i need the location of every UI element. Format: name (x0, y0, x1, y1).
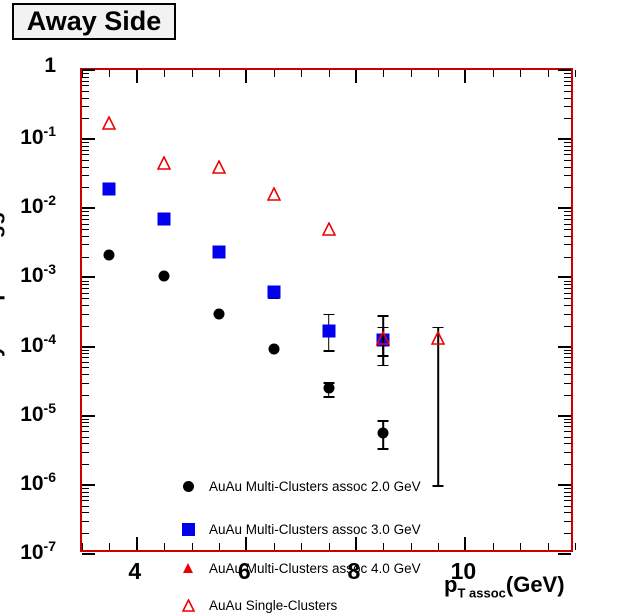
y-tick-minor (82, 77, 89, 78)
data-point (157, 156, 171, 170)
y-tick-minor (564, 257, 571, 258)
x-tick-major (464, 537, 466, 550)
error-bar-cap (323, 396, 334, 398)
legend-marker-open-triangle-icon (167, 599, 209, 612)
error-bar-cap (378, 327, 389, 329)
y-tick-minor (82, 211, 89, 212)
y-tick-major (558, 553, 571, 555)
y-tick-minor (82, 224, 89, 225)
y-tick-minor (82, 175, 89, 176)
y-tick-minor (564, 431, 571, 432)
y-tick-minor (82, 146, 89, 147)
error-bar-cap (378, 420, 389, 422)
legend-item[interactable]: AuAu Multi-Clusters assoc 3.0 GeV (167, 518, 421, 540)
y-tick-minor (82, 314, 89, 315)
x-tick-minor (164, 70, 165, 77)
data-point (378, 428, 389, 439)
y-tick-minor (82, 244, 89, 245)
y-tick-minor (82, 298, 89, 299)
x-tick-minor (219, 70, 220, 77)
y-tick-major (82, 69, 95, 71)
y-tick-minor (82, 437, 89, 438)
x-tick-minor (109, 543, 110, 550)
y-tick-minor (82, 154, 89, 155)
y-tick-minor (564, 426, 571, 427)
y-tick-minor (564, 305, 571, 306)
plot-area: AuAu Multi-Clusters assoc 2.0 GeVAuAu Mu… (80, 68, 573, 552)
y-tick-minor (564, 281, 571, 282)
y-tick-minor (564, 353, 571, 354)
y-tick-minor (564, 512, 571, 513)
y-tick-label: 10-5 (20, 400, 56, 427)
y-tick-minor (82, 81, 89, 82)
error-bar-cap (378, 365, 389, 367)
y-tick-minor (564, 175, 571, 176)
y-tick-major (558, 346, 571, 348)
y-tick-minor (82, 257, 89, 258)
x-tick-minor (520, 543, 521, 550)
error-bar-cap (433, 327, 444, 329)
y-tick-minor (564, 521, 571, 522)
x-tick-minor (301, 70, 302, 77)
y-tick-minor (564, 160, 571, 161)
error-bar-cap (433, 485, 444, 487)
y-tick-minor (82, 357, 89, 358)
legend-item[interactable]: AuAu Multi-Clusters assoc 4.0 GeV (167, 557, 421, 579)
x-tick-minor (274, 70, 275, 77)
y-tick-minor (564, 211, 571, 212)
data-point (431, 331, 445, 345)
y-tick-minor (82, 533, 89, 534)
y-tick-label: 10-4 (20, 331, 56, 358)
y-tick-major (82, 276, 95, 278)
y-tick-minor (82, 293, 89, 294)
y-tick-minor (564, 146, 571, 147)
y-tick-minor (82, 464, 89, 465)
error-bar-cap (378, 315, 389, 317)
y-tick-minor (564, 224, 571, 225)
y-tick-minor (82, 236, 89, 237)
data-point (267, 187, 281, 201)
y-tick-minor (82, 288, 89, 289)
y-tick-major (558, 484, 571, 486)
y-tick-minor (564, 362, 571, 363)
legend-marker-filled-circle-icon (167, 481, 209, 492)
legend-marker-filled-square-icon (167, 523, 209, 536)
y-tick-minor (82, 150, 89, 151)
data-point (158, 212, 171, 225)
y-tick-minor (564, 150, 571, 151)
y-tick-minor (82, 118, 89, 119)
y-tick-minor (564, 288, 571, 289)
y-axis-title: Assoc. yield per trigger (0, 191, 6, 436)
y-tick-minor (564, 77, 571, 78)
data-point (212, 246, 225, 259)
legend-label: AuAu Multi-Clusters assoc 2.0 GeV (209, 479, 421, 494)
y-tick-minor (82, 85, 89, 86)
y-tick-minor (564, 437, 571, 438)
y-tick-minor (564, 106, 571, 107)
x-tick-minor (411, 543, 412, 550)
y-tick-minor (564, 443, 571, 444)
y-tick-minor (564, 350, 571, 351)
data-point (212, 160, 226, 174)
y-tick-major (558, 69, 571, 71)
y-tick-label: 1 (44, 54, 56, 78)
y-tick-minor (564, 229, 571, 230)
y-tick-minor (564, 422, 571, 423)
x-tick-minor (438, 70, 439, 77)
x-tick-minor (383, 543, 384, 550)
x-tick-major (464, 70, 466, 83)
y-tick-minor (564, 488, 571, 489)
y-tick-minor (564, 91, 571, 92)
y-tick-minor (564, 357, 571, 358)
data-point (267, 285, 280, 298)
y-tick-minor (82, 106, 89, 107)
x-tick-minor (548, 70, 549, 77)
y-tick-minor (564, 383, 571, 384)
data-point (268, 343, 279, 354)
y-tick-minor (82, 284, 89, 285)
legend-marker-filled-triangle-icon (167, 562, 209, 574)
x-tick-minor (274, 543, 275, 550)
y-tick-minor (82, 500, 89, 501)
y-tick-minor (82, 383, 89, 384)
y-tick-minor (82, 73, 89, 74)
x-tick-minor (493, 543, 494, 550)
y-tick-minor (82, 326, 89, 327)
x-tick-minor (192, 543, 193, 550)
x-tick-minor (164, 543, 165, 550)
x-tick-minor (329, 543, 330, 550)
y-tick-minor (564, 298, 571, 299)
y-tick-minor (564, 367, 571, 368)
y-tick-minor (564, 496, 571, 497)
y-tick-minor (564, 419, 571, 420)
data-point (376, 331, 390, 345)
x-tick-minor (82, 70, 83, 77)
y-tick-minor (564, 118, 571, 119)
data-point (102, 116, 116, 130)
x-axis-title-unit: (GeV) (506, 572, 565, 597)
y-tick-minor (82, 496, 89, 497)
data-point (322, 324, 335, 337)
y-tick-major (82, 346, 95, 348)
y-tick-major (82, 415, 95, 417)
y-tick-minor (82, 422, 89, 423)
x-tick-major (355, 70, 357, 83)
y-tick-minor (82, 452, 89, 453)
y-tick-minor (564, 314, 571, 315)
y-tick-minor (82, 492, 89, 493)
x-tick-minor (109, 70, 110, 77)
y-tick-minor (564, 98, 571, 99)
y-tick-minor (82, 353, 89, 354)
y-tick-minor (564, 142, 571, 143)
y-tick-major (82, 138, 95, 140)
y-tick-minor (82, 362, 89, 363)
y-tick-major (82, 207, 95, 209)
y-tick-minor (564, 464, 571, 465)
y-tick-minor (564, 73, 571, 74)
x-tick-minor (520, 70, 521, 77)
x-tick-major (136, 537, 138, 550)
y-tick-minor (564, 500, 571, 501)
y-tick-label: 10-3 (20, 261, 56, 288)
data-point (104, 250, 115, 261)
x-tick-minor (82, 543, 83, 550)
y-tick-label: 10-1 (20, 123, 56, 150)
data-point (159, 270, 170, 281)
y-tick-minor (82, 142, 89, 143)
x-tick-major (136, 70, 138, 83)
y-tick-minor (82, 91, 89, 92)
x-tick-minor (301, 543, 302, 550)
error-bar-cap (378, 355, 389, 357)
x-tick-minor (192, 70, 193, 77)
y-tick-minor (82, 512, 89, 513)
x-tick-label: 6 (238, 558, 251, 585)
x-tick-minor (219, 543, 220, 550)
y-tick-minor (82, 219, 89, 220)
y-tick-minor (564, 395, 571, 396)
legend-label: AuAu Single-Clusters (209, 598, 337, 613)
data-point (213, 308, 224, 319)
x-tick-minor (411, 70, 412, 77)
y-tick-minor (564, 533, 571, 534)
y-tick-minor (82, 426, 89, 427)
legend-item[interactable]: AuAu Single-Clusters (167, 594, 337, 616)
x-tick-label: 4 (128, 558, 141, 585)
y-tick-minor (82, 187, 89, 188)
x-tick-minor (575, 70, 576, 77)
y-tick-minor (82, 98, 89, 99)
y-tick-minor (82, 281, 89, 282)
x-tick-label: 8 (347, 558, 360, 585)
y-tick-minor (82, 374, 89, 375)
x-axis-title-subscript: T assoc (457, 585, 505, 600)
y-tick-minor (564, 236, 571, 237)
y-tick-major (558, 207, 571, 209)
y-tick-minor (82, 431, 89, 432)
x-tick-label: 10 (451, 558, 477, 585)
error-bar-cap (323, 314, 334, 316)
y-tick-minor (82, 167, 89, 168)
y-tick-minor (564, 506, 571, 507)
y-tick-minor (82, 367, 89, 368)
y-tick-minor (564, 326, 571, 327)
y-tick-minor (82, 305, 89, 306)
x-tick-minor (548, 543, 549, 550)
x-tick-minor (438, 543, 439, 550)
error-bar-cap (378, 448, 389, 450)
y-tick-label: 10-7 (20, 538, 56, 565)
y-tick-minor (82, 419, 89, 420)
y-tick-minor (82, 488, 89, 489)
y-tick-major (558, 276, 571, 278)
error-bar-cap (323, 350, 334, 352)
y-tick-major (558, 415, 571, 417)
y-tick-minor (564, 284, 571, 285)
y-tick-minor (564, 154, 571, 155)
y-tick-major (82, 553, 95, 555)
x-tick-minor (493, 70, 494, 77)
y-tick-minor (564, 452, 571, 453)
data-point (322, 222, 336, 236)
y-tick-minor (564, 374, 571, 375)
y-tick-minor (82, 215, 89, 216)
y-tick-minor (82, 506, 89, 507)
x-tick-minor (575, 543, 576, 550)
y-tick-minor (564, 85, 571, 86)
y-tick-minor (564, 293, 571, 294)
plot-title-text: Away Side (27, 6, 162, 37)
y-tick-minor (82, 443, 89, 444)
y-tick-minor (564, 492, 571, 493)
y-tick-minor (82, 395, 89, 396)
y-tick-label: 10-2 (20, 192, 56, 219)
y-tick-minor (82, 160, 89, 161)
y-tick-minor (82, 350, 89, 351)
y-tick-minor (82, 521, 89, 522)
y-tick-minor (564, 81, 571, 82)
x-tick-minor (329, 70, 330, 77)
x-tick-major (245, 70, 247, 83)
legend-label: AuAu Multi-Clusters assoc 3.0 GeV (209, 522, 421, 537)
legend-item[interactable]: AuAu Multi-Clusters assoc 2.0 GeV (167, 475, 421, 497)
y-tick-minor (564, 244, 571, 245)
error-bar (437, 327, 439, 485)
y-tick-major (558, 138, 571, 140)
data-point (323, 383, 334, 394)
x-tick-minor (383, 70, 384, 77)
plot-title-box: Away Side (12, 3, 176, 40)
y-tick-minor (564, 187, 571, 188)
y-tick-minor (564, 167, 571, 168)
y-tick-minor (82, 229, 89, 230)
y-tick-minor (564, 219, 571, 220)
y-tick-minor (564, 215, 571, 216)
y-tick-major (82, 484, 95, 486)
y-tick-label: 10-6 (20, 469, 56, 496)
data-point (103, 183, 116, 196)
